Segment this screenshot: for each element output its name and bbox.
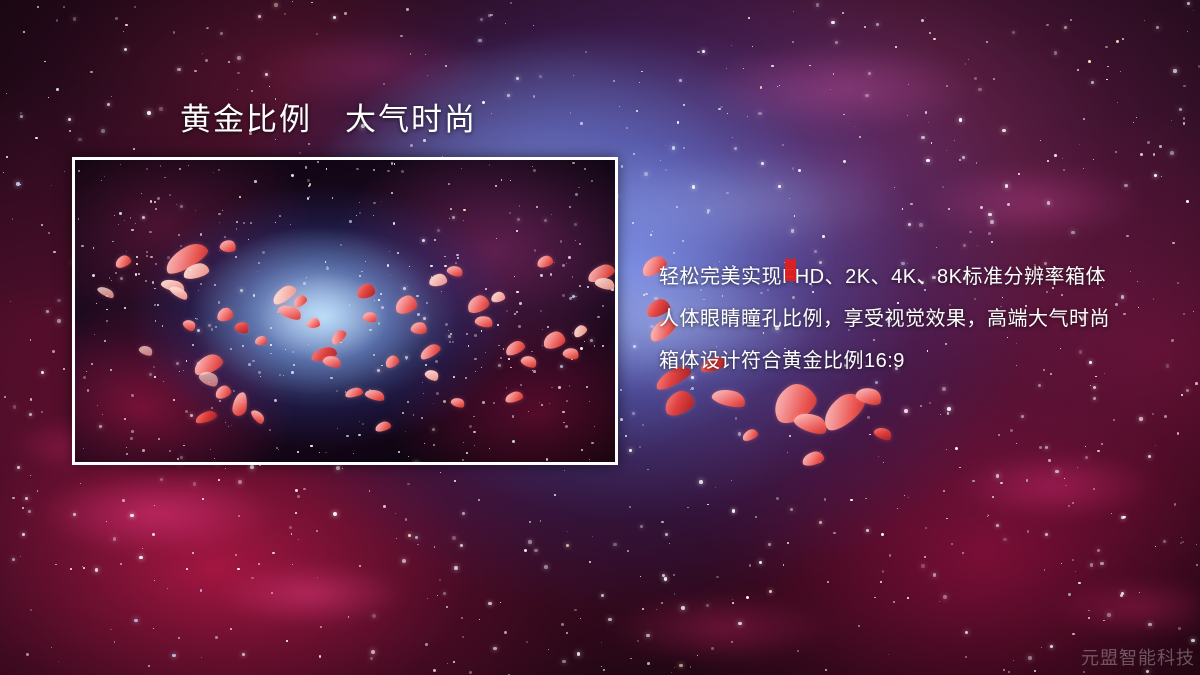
watermark: 元盟智能科技 [1081,644,1195,670]
text-cursor-highlight [785,259,796,281]
body-line-3-text: 箱体设计符合黄金比例16:9 [659,350,905,372]
picture-nebula-image [75,160,615,462]
page-title: 黄金比例 大气时尚 [180,101,477,138]
body-line-1-text: 轻松完美实现FHD、2K、4K、8K标准分辨率箱体 [659,266,1106,288]
body-line-2-text: 人体眼睛瞳孔比例，享受视觉效果，高端大气时尚 [659,308,1110,330]
framed-picture [72,157,618,465]
body-line-3: 箱体设计符合黄金比例16:9 [659,340,1159,382]
body-line-1: 轻松完美实现FHD、2K、4K、8K标准分辨率箱体 [659,256,1159,298]
body-line-2: 人体眼睛瞳孔比例，享受视觉效果，高端大气时尚 [659,298,1159,340]
body-text-block: 轻松完美实现FHD、2K、4K、8K标准分辨率箱体 人体眼睛瞳孔比例，享受视觉效… [659,256,1159,382]
presentation-slide: 黄金比例 大气时尚 轻松完美实现FHD、2K、4K、8K标准分辨率箱体 人体眼睛… [0,0,1200,675]
